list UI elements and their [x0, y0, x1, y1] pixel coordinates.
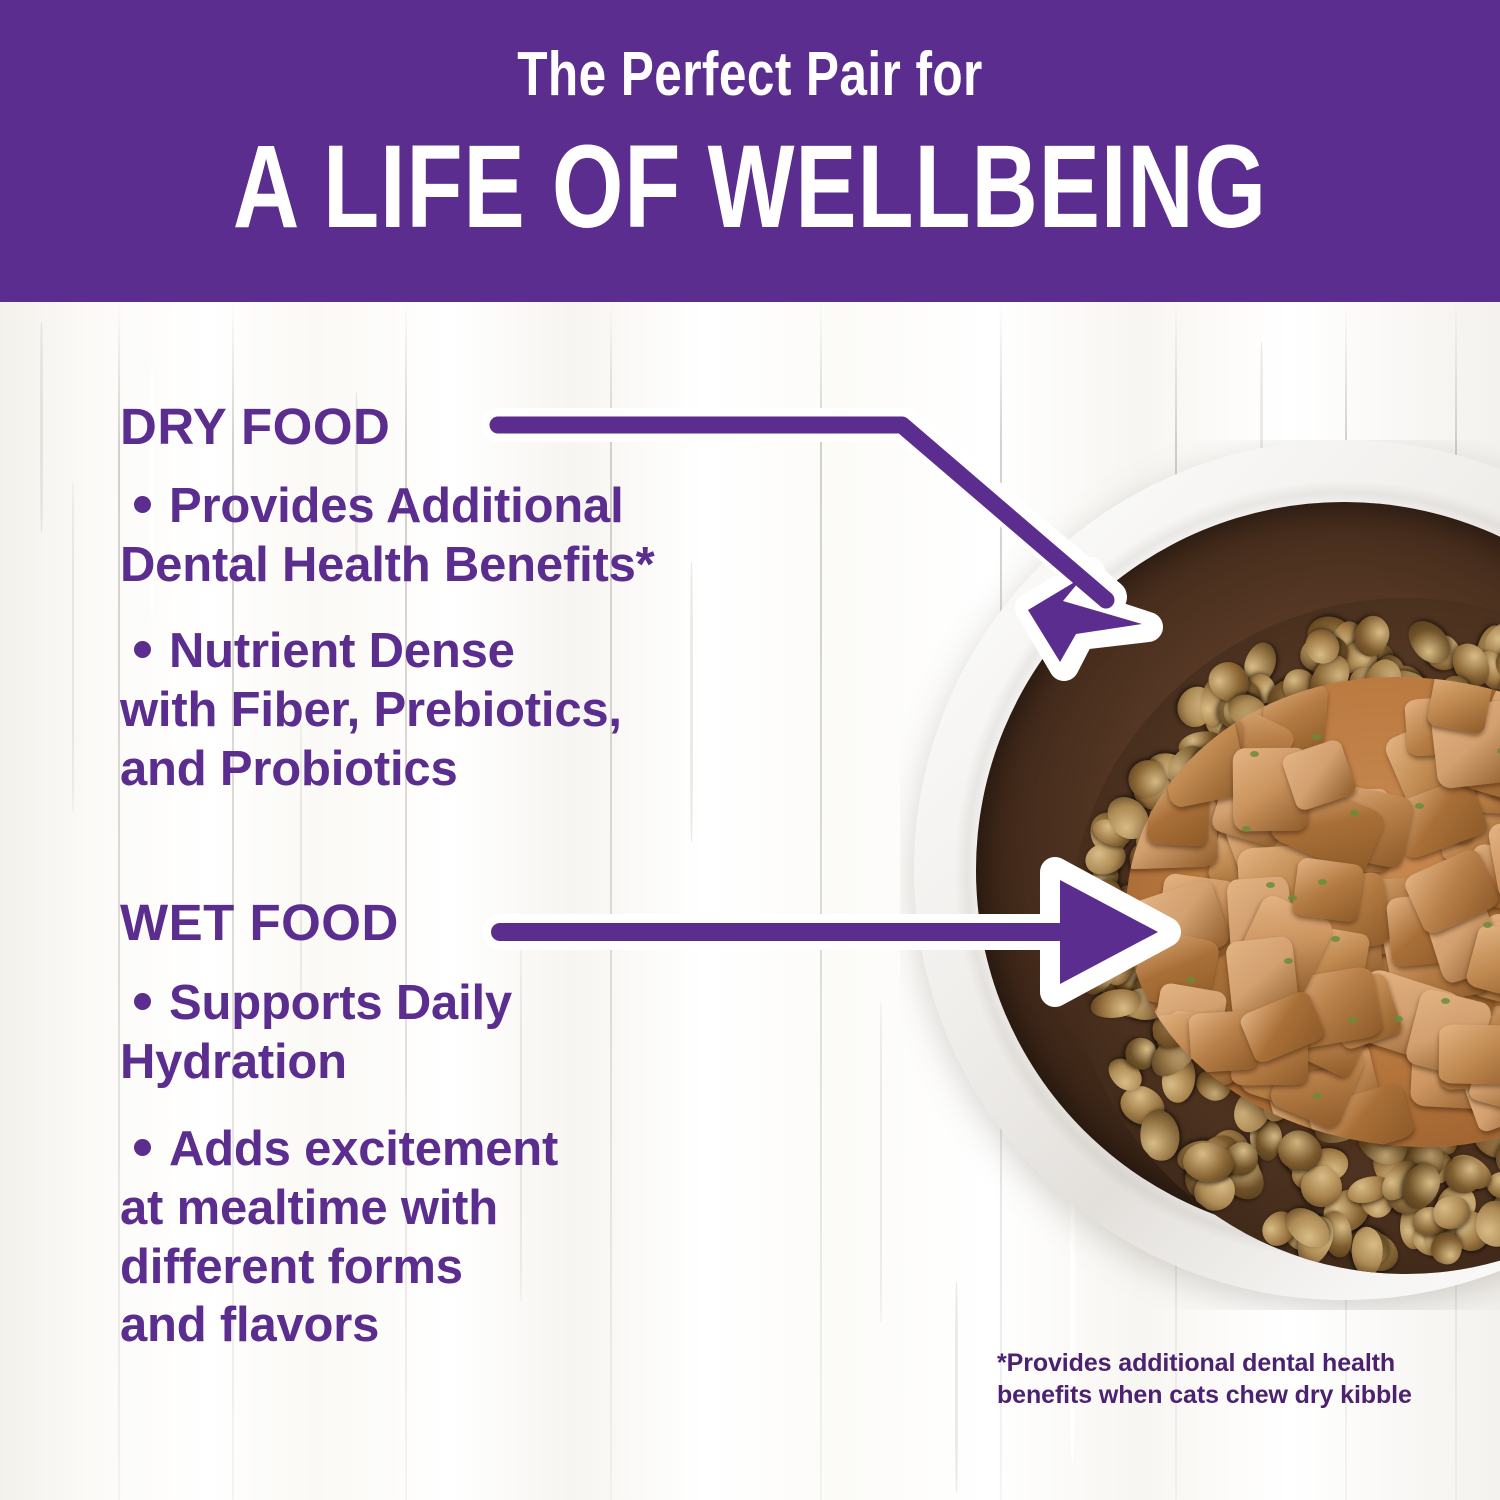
- wood-grain: [955, 1282, 958, 1492]
- dry-food-bullet-2: Nutrient Densewith Fiber, Prebiotics,and…: [120, 622, 780, 798]
- herb-fleck: [1186, 977, 1195, 983]
- herb-fleck: [1483, 922, 1492, 928]
- bowl-rim: [914, 440, 1500, 1300]
- wet-bullet-2-line-3: different forms: [120, 1240, 463, 1294]
- wet-bullet-2-line-1: Adds excitement: [169, 1122, 558, 1176]
- wet-food-chunk: [1438, 1024, 1500, 1084]
- dry-bullet-1-line-2: Dental Health Benefits*: [120, 538, 655, 592]
- herb-fleck: [1242, 826, 1251, 832]
- bowl-inner-wall: [976, 502, 1500, 1238]
- wood-grain: [40, 322, 43, 532]
- kibble-piece: [1351, 1227, 1383, 1274]
- bullet-dot-icon: [134, 1139, 151, 1156]
- herb-fleck: [1284, 958, 1293, 964]
- dry-bullet-1-line-1: Provides Additional: [169, 479, 624, 533]
- footnote-line-2: benefits when cats chew dry kibble: [997, 1381, 1412, 1409]
- herb-fleck: [1312, 734, 1321, 740]
- herb-fleck: [1250, 751, 1259, 757]
- wet-bullet-1-line-2: Hydration: [120, 1035, 347, 1089]
- wet-food-heading: WET FOOD: [120, 897, 399, 948]
- herb-fleck: [1331, 936, 1340, 942]
- dry-food-heading: DRY FOOD: [120, 401, 390, 452]
- wet-food-bullet-1: Supports DailyHydration: [120, 974, 680, 1092]
- footnote-line-1: *Provides additional dental health: [997, 1349, 1395, 1377]
- wood-grain: [72, 482, 74, 812]
- cat-food-bowl-photo: [900, 440, 1500, 1310]
- herb-fleck: [1313, 1093, 1322, 1099]
- herb-fleck: [1350, 810, 1359, 816]
- wet-bullet-2-line-2: at mealtime with: [120, 1181, 498, 1235]
- dry-bullet-2-line-1: Nutrient Dense: [169, 624, 515, 678]
- wet-food-chunk: [1291, 857, 1364, 923]
- dry-food-bullet-1: Provides AdditionalDental Health Benefit…: [120, 477, 820, 595]
- kibble-piece: [1431, 1232, 1463, 1266]
- herb-fleck: [1288, 895, 1297, 901]
- herb-fleck: [1394, 1016, 1403, 1022]
- header-band: The Perfect Pair for A LIFE OF WELLBEING: [0, 0, 1500, 302]
- dry-bullet-2-line-2: with Fiber, Prebiotics,: [120, 683, 622, 737]
- wet-food-bullet-2: Adds excitementat mealtime withdifferent…: [120, 1120, 690, 1355]
- wet-bullet-2-line-4: and flavors: [120, 1298, 379, 1352]
- wet-bullet-1-line-1: Supports Daily: [169, 976, 512, 1030]
- bullet-dot-icon: [134, 641, 151, 658]
- dry-bullet-2-line-3: and Probiotics: [120, 742, 458, 796]
- wet-food-mound: [1126, 677, 1500, 1147]
- footnote-disclaimer: *Provides additional dental health benef…: [997, 1347, 1427, 1411]
- page-title: A LIFE OF WELLBEING: [233, 128, 1267, 246]
- infographic-page: The Perfect Pair for A LIFE OF WELLBEING: [0, 0, 1500, 1500]
- herb-fleck: [1441, 998, 1450, 1004]
- bullet-dot-icon: [134, 496, 151, 513]
- plank-seam: [820, 302, 822, 1500]
- bullet-dot-icon: [134, 993, 151, 1010]
- wood-grain: [880, 1002, 882, 1322]
- header-subtitle: The Perfect Pair for: [517, 44, 983, 106]
- herb-fleck: [1266, 882, 1275, 888]
